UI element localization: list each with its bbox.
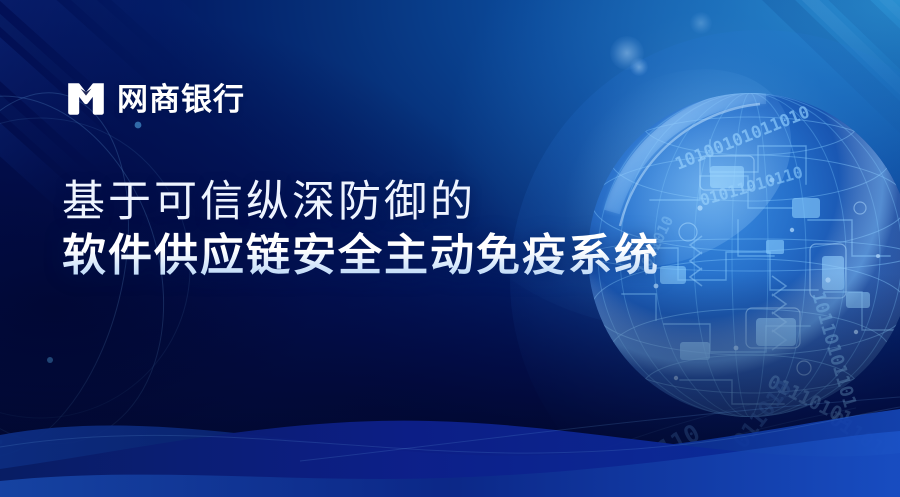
page-title: 基于可信纵深防御的 软件供应链安全主动免疫系统 (62, 176, 662, 285)
poster-canvas: 10100101011010 01011010110 10110101101 0… (0, 0, 900, 497)
bottom-wave-layers-icon (0, 357, 900, 497)
brand-name: 网商银行 (117, 84, 245, 115)
title-line-2: 软件供应链安全主动免疫系统 (62, 228, 662, 284)
title-line-1: 基于可信纵深防御的 (62, 176, 662, 228)
mybank-m-logo-icon (66, 79, 106, 119)
brand-logo: 网商银行 (66, 76, 245, 122)
